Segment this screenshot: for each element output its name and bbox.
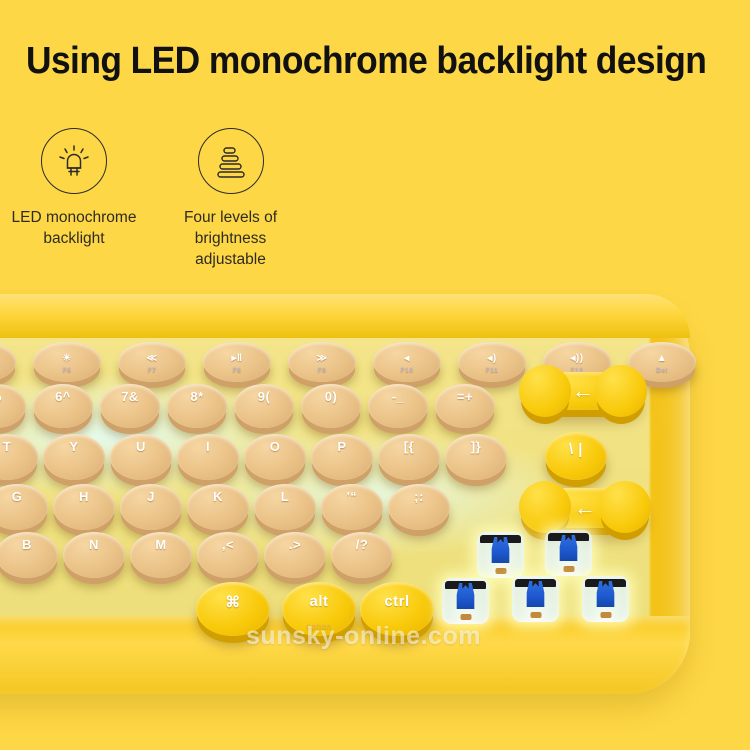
- key-label: U: [136, 439, 146, 454]
- key-label: ;:: [414, 489, 424, 504]
- fn-key-f9[interactable]: ≫F9: [288, 342, 356, 382]
- key-label: =+: [457, 389, 473, 404]
- key-label: K: [213, 489, 223, 504]
- previous-track-icon: ≪: [147, 354, 158, 364]
- switch-pin: [495, 568, 506, 574]
- fn-key-label: Del: [656, 367, 668, 374]
- key-label: 0): [325, 389, 338, 404]
- fn-key-f10[interactable]: ◂F10: [373, 342, 441, 382]
- key-label: ⌘: [225, 593, 241, 611]
- letter-key-n[interactable]: N: [63, 532, 125, 578]
- volume-up-icon: ◂)): [570, 354, 583, 364]
- key-label: %: [0, 389, 2, 404]
- key-label: I: [206, 439, 210, 454]
- fn-key-label: F7: [148, 367, 157, 374]
- letter-key-y[interactable]: Y: [43, 434, 105, 480]
- key-label: ]}: [471, 439, 481, 454]
- switch-pin: [460, 614, 471, 620]
- led-bulb-icon: [41, 128, 107, 194]
- key-label: ctrl: [384, 593, 409, 610]
- key-label: P: [337, 439, 346, 454]
- key-label: H: [79, 489, 89, 504]
- brightness-levels-icon: [198, 128, 264, 194]
- exposed-mechanical-switch[interactable]: [582, 576, 629, 622]
- page-title: Using LED monochrome backlight design: [26, 40, 677, 83]
- key-label: /?: [356, 537, 369, 552]
- fn-key-f7[interactable]: ≪F7: [118, 342, 186, 382]
- letter-key-m[interactable]: M: [130, 532, 192, 578]
- letter-key-p[interactable]: P: [311, 434, 373, 480]
- key-label: J: [147, 489, 155, 504]
- info-panel: Using LED monochrome backlight design: [0, 0, 750, 290]
- fn-key-f6[interactable]: ☀F6: [33, 342, 101, 382]
- key-sublabel: option: [282, 622, 356, 631]
- ctrl-key[interactable]: ctrl: [360, 582, 434, 636]
- key-label: .>: [289, 537, 301, 552]
- volume-mute-icon: ◂: [404, 354, 410, 364]
- num-key-sym[interactable]: =+: [435, 384, 495, 428]
- fn-key-label: F11: [486, 367, 499, 374]
- letter-key-k[interactable]: K: [187, 484, 249, 530]
- enter-key[interactable]: ←: [523, 488, 647, 528]
- backslash-key[interactable]: \ |: [545, 432, 607, 480]
- key-label: M: [155, 537, 166, 552]
- feature-icon-wrap: [0, 128, 154, 194]
- fn-key-f11[interactable]: ◂)F11: [458, 342, 526, 382]
- arrow-left-icon: ←: [572, 380, 594, 402]
- fn-key-f8[interactable]: ▸‖F8: [203, 342, 271, 382]
- key-label: 6^: [55, 389, 71, 404]
- letter-key-h[interactable]: H: [53, 484, 115, 530]
- feature-icon-wrap: [168, 128, 293, 194]
- alt-key[interactable]: altoption: [282, 582, 356, 636]
- fn-key-label: F9: [318, 367, 327, 374]
- fn-key-label: F10: [400, 367, 413, 374]
- exposed-mechanical-switch[interactable]: [477, 532, 524, 578]
- key-label: Y: [69, 439, 78, 454]
- letter-key-o[interactable]: O: [244, 434, 306, 480]
- switch-pin: [600, 612, 611, 618]
- num-key-sym[interactable]: -_: [368, 384, 428, 428]
- letter-key-u[interactable]: U: [110, 434, 172, 480]
- feature-caption: LED monochrome backlight: [0, 207, 154, 249]
- letter-key-sym[interactable]: .>: [264, 532, 326, 578]
- letter-key-l[interactable]: L: [254, 484, 316, 530]
- num-key-0[interactable]: 0): [301, 384, 361, 428]
- letter-key-sym[interactable]: ]}: [445, 434, 507, 480]
- key-label: ,<: [222, 537, 234, 552]
- letter-key-sym[interactable]: /?: [331, 532, 393, 578]
- num-key-9[interactable]: 9(: [234, 384, 294, 428]
- command-key[interactable]: ⌘: [196, 582, 270, 636]
- fn-key-label: F8: [233, 367, 242, 374]
- key-label: [{: [404, 439, 414, 454]
- letter-key-i[interactable]: I: [177, 434, 239, 480]
- letter-key-sym[interactable]: [{: [378, 434, 440, 480]
- feature-caption: Four levels of brightness adjustable: [168, 207, 293, 270]
- key-label: N: [89, 537, 99, 552]
- exposed-mechanical-switch[interactable]: [442, 578, 489, 624]
- volume-down-icon: ◂): [487, 354, 496, 364]
- key-label: 8*: [190, 389, 203, 404]
- arrow-left-icon: ←: [574, 497, 596, 519]
- num-key-8[interactable]: 8*: [167, 384, 227, 428]
- letter-key-sym[interactable]: '“: [321, 484, 383, 530]
- key-label: 9(: [258, 389, 271, 404]
- switch-pin: [530, 612, 541, 618]
- letter-key-j[interactable]: J: [120, 484, 182, 530]
- backspace-key[interactable]: ←: [523, 372, 643, 410]
- key-label: 7&: [121, 389, 139, 404]
- exposed-mechanical-switch[interactable]: [512, 576, 559, 622]
- key-label: L: [281, 489, 289, 504]
- num-key-7[interactable]: 7&: [100, 384, 160, 428]
- play-pause-icon: ▸‖: [232, 354, 243, 364]
- key-label: -_: [392, 389, 405, 404]
- exposed-mechanical-switch[interactable]: [545, 530, 592, 576]
- delete-icon: ▲: [657, 354, 667, 364]
- key-label: G: [12, 489, 23, 504]
- backlight-up-icon: ☀: [62, 354, 71, 364]
- fn-key-label: F6: [63, 367, 72, 374]
- num-key-6[interactable]: 6^: [33, 384, 93, 428]
- key-label: alt: [309, 593, 328, 610]
- key-label: T: [3, 439, 11, 454]
- letter-key-sym[interactable]: ,<: [197, 532, 259, 578]
- key-label: '“: [347, 489, 358, 504]
- keyboard-top-bezel: [0, 294, 690, 338]
- feature-led-monochrome-backlight: LED monochrome backlight: [0, 128, 154, 249]
- keyboard-photo: ☀F5☀F6≪F7▸‖F8≫F9◂F10◂)F11◂))F12▲Del %6^7…: [0, 286, 750, 750]
- key-label: B: [22, 537, 32, 552]
- switch-pin: [563, 566, 574, 572]
- letter-key-sym[interactable]: ;:: [388, 484, 450, 530]
- next-track-icon: ≫: [317, 354, 328, 364]
- key-label: O: [270, 439, 281, 454]
- feature-four-levels-brightness: Four levels of brightness adjustable: [168, 128, 293, 270]
